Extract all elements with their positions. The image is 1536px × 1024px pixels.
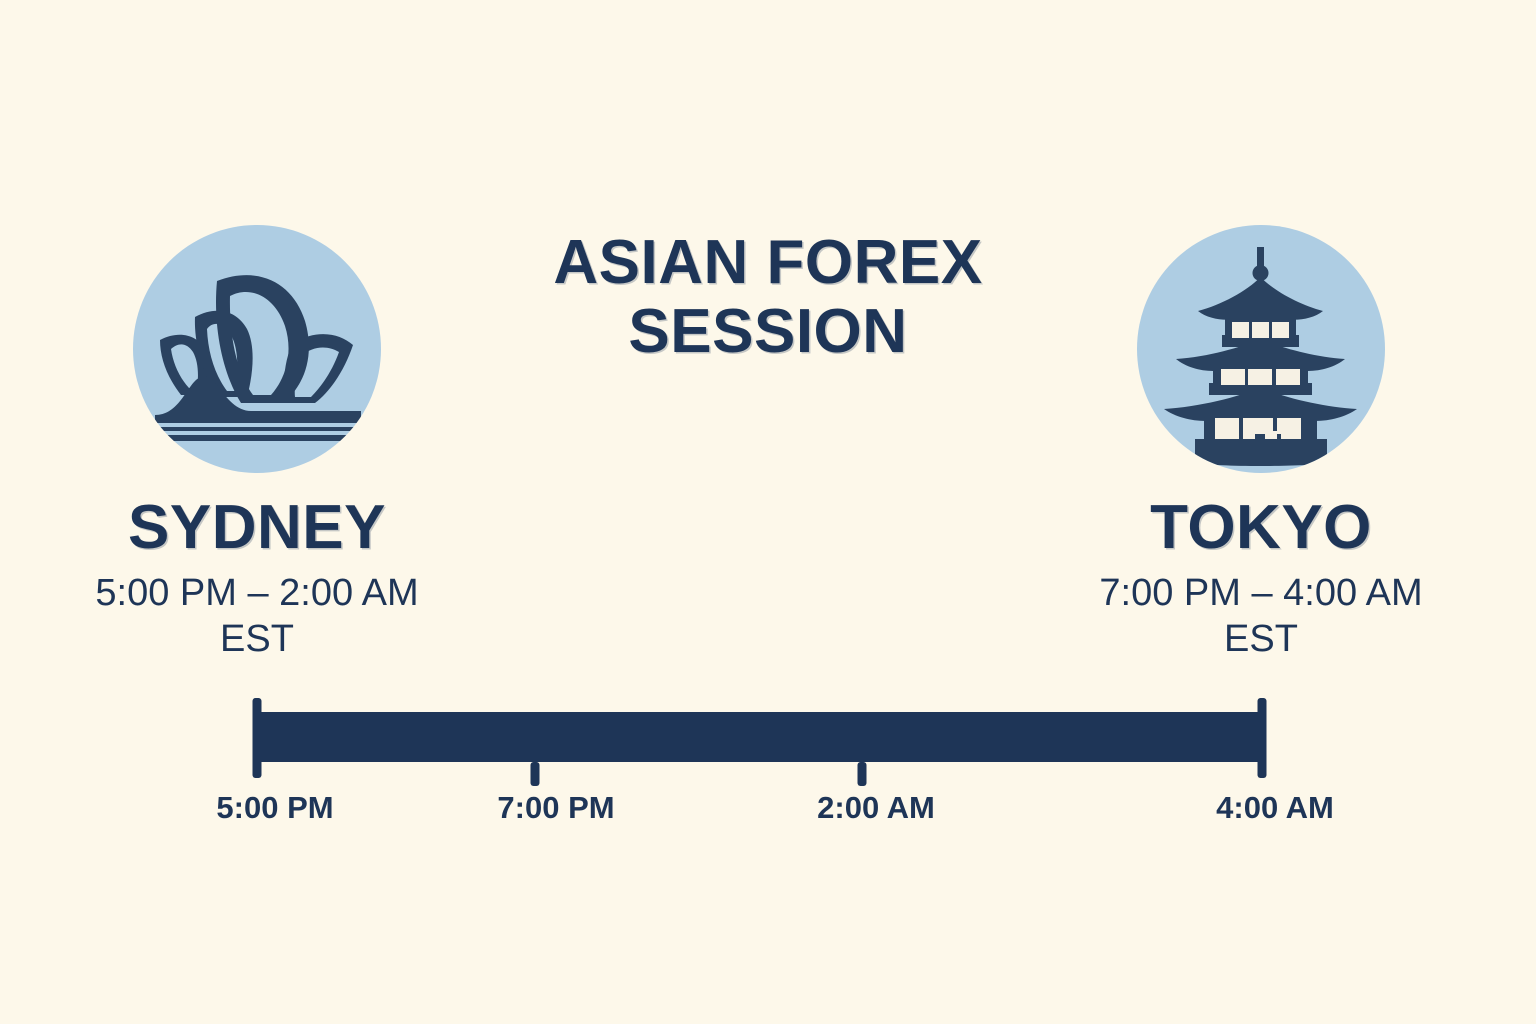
timeline-tick-1 bbox=[253, 698, 262, 778]
city-hours-sydney: 5:00 PM – 2:00 AM bbox=[42, 570, 472, 616]
city-hours-tokyo: 7:00 PM – 4:00 AM bbox=[1046, 570, 1476, 616]
city-block-sydney: SYDNEY 5:00 PM – 2:00 AM EST bbox=[42, 225, 472, 662]
timeline-tick-2 bbox=[531, 762, 540, 786]
timeline-tick-label-2: 7:00 PM bbox=[406, 790, 706, 826]
timeline-tick-label-4: 4:00 AM bbox=[1125, 790, 1425, 826]
city-name-tokyo: TOKYO bbox=[1046, 496, 1476, 560]
page-title: ASIAN FOREX SESSION bbox=[468, 228, 1068, 366]
session-timeline: 5:00 PM 7:00 PM 2:00 AM 4:00 AM bbox=[0, 690, 1536, 870]
sydney-opera-house-icon bbox=[133, 225, 381, 473]
timeline-tick-label-3: 2:00 AM bbox=[726, 790, 1026, 826]
timeline-tick-label-1: 5:00 PM bbox=[125, 790, 425, 826]
timeline-tick-4 bbox=[1258, 698, 1267, 778]
pagoda-icon bbox=[1137, 225, 1385, 473]
page-title-line-2: SESSION bbox=[468, 297, 1068, 366]
infographic-canvas: ASIAN FOREX SESSION bbox=[0, 0, 1536, 1024]
page-title-line-1: ASIAN FOREX bbox=[468, 228, 1068, 297]
city-timezone-sydney: EST bbox=[42, 616, 472, 662]
city-name-sydney: SYDNEY bbox=[42, 496, 472, 560]
timeline-bar bbox=[257, 712, 1263, 762]
timeline-tick-3 bbox=[858, 762, 867, 786]
city-block-tokyo: TOKYO 7:00 PM – 4:00 AM EST bbox=[1046, 225, 1476, 662]
city-timezone-tokyo: EST bbox=[1046, 616, 1476, 662]
